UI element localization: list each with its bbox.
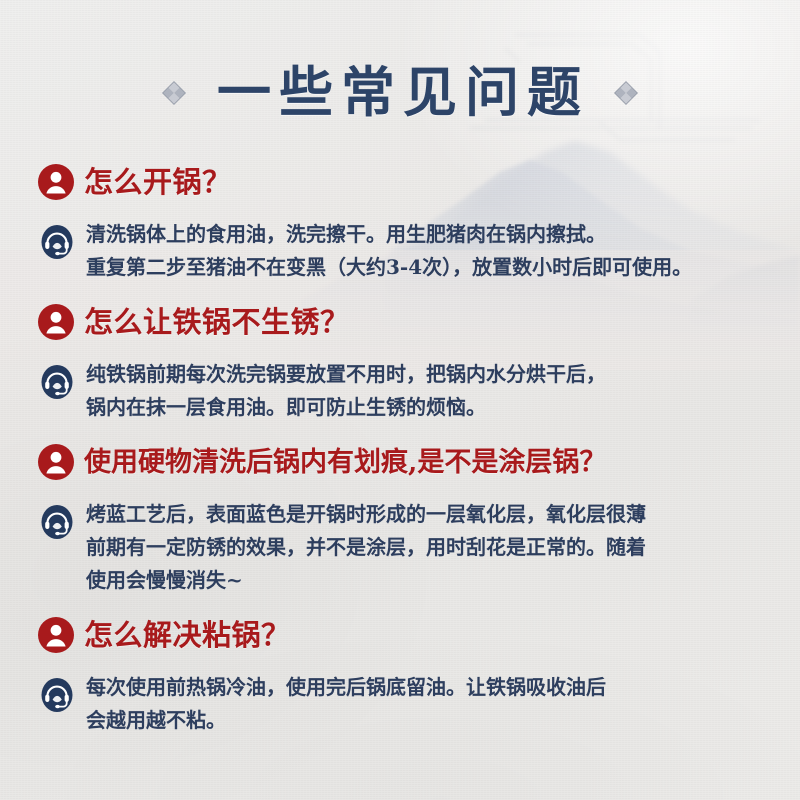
faq-item: 怎么解决粘锅？ 每次使用前热锅冷油，使用完后锅底留油。让铁锅吸收油后 会越用越不… — [0, 609, 800, 737]
faq-answer-row: 清洗锅体上的食用油，洗完擦干。用生肥猪肉在锅内擦拭。 重复第二步至猪油不在变黑（… — [0, 208, 800, 284]
faq-answer-text: 每次使用前热锅冷油，使用完后锅底留油。让铁锅吸收油后 会越用越不粘。 — [86, 669, 606, 737]
faq-answer-row: 烤蓝工艺后，表面蓝色是开锅时形成的一层氧化层，氧化层很薄 前期有一定防锈的效果，… — [0, 488, 800, 597]
person-icon — [38, 444, 74, 480]
faq-question-text: 怎么解决粘锅？ — [84, 621, 291, 650]
faq-question-row[interactable]: 怎么解决粘锅？ — [0, 609, 800, 661]
headset-icon — [40, 678, 74, 712]
faq-question-row[interactable]: 使用硬物清洗后锅内有划痕,是不是涂层锅？ — [0, 436, 800, 488]
person-icon — [38, 164, 74, 200]
faq-item: 怎么让铁锅不生锈？ 纯铁锅前期每次洗完锅要放置不用时，把锅内水分烘干后， 锅内在… — [0, 296, 800, 424]
faq-question-text: 怎么让铁锅不生锈？ — [84, 308, 350, 337]
faq-answer-text: 清洗锅体上的食用油，洗完擦干。用生肥猪肉在锅内擦拭。 重复第二步至猪油不在变黑（… — [86, 216, 692, 284]
faq-question-text: 使用硬物清洗后锅内有划痕,是不是涂层锅？ — [84, 449, 606, 476]
faq-answer-row: 纯铁锅前期每次洗完锅要放置不用时，把锅内水分烘干后， 锅内在抹一层食用油。即可防… — [0, 348, 800, 424]
page-header: 一些常见问题 — [0, 44, 800, 130]
faq-question-row[interactable]: 怎么让铁锅不生锈？ — [0, 296, 800, 348]
diamond-ornament-left — [161, 80, 187, 106]
faq-answer-text: 纯铁锅前期每次洗完锅要放置不用时，把锅内水分烘干后， 锅内在抹一层食用油。即可防… — [86, 356, 606, 424]
person-icon — [38, 304, 74, 340]
page-title: 一些常见问题 — [211, 48, 589, 127]
headset-icon — [40, 505, 74, 539]
faq-list: 怎么开锅？ 清洗锅体上的食用油，洗完擦干。用生肥猪肉在锅内擦拭。 重复第二步至猪… — [0, 156, 800, 749]
diamond-ornament-right — [613, 80, 639, 106]
headset-icon — [40, 365, 74, 399]
faq-question-row[interactable]: 怎么开锅？ — [0, 156, 800, 208]
faq-page: 一些常见问题 怎么开锅？ — [0, 0, 800, 800]
faq-item: 怎么开锅？ 清洗锅体上的食用油，洗完擦干。用生肥猪肉在锅内擦拭。 重复第二步至猪… — [0, 156, 800, 284]
faq-answer-row: 每次使用前热锅冷油，使用完后锅底留油。让铁锅吸收油后 会越用越不粘。 — [0, 661, 800, 737]
headset-icon — [40, 225, 74, 259]
faq-item: 使用硬物清洗后锅内有划痕,是不是涂层锅？ 烤蓝工艺后，表面蓝色是开锅时形成的一层… — [0, 436, 800, 597]
faq-answer-text: 烤蓝工艺后，表面蓝色是开锅时形成的一层氧化层，氧化层很薄 前期有一定防锈的效果，… — [86, 496, 646, 597]
faq-question-text: 怎么开锅？ — [84, 168, 232, 197]
person-icon — [38, 617, 74, 653]
